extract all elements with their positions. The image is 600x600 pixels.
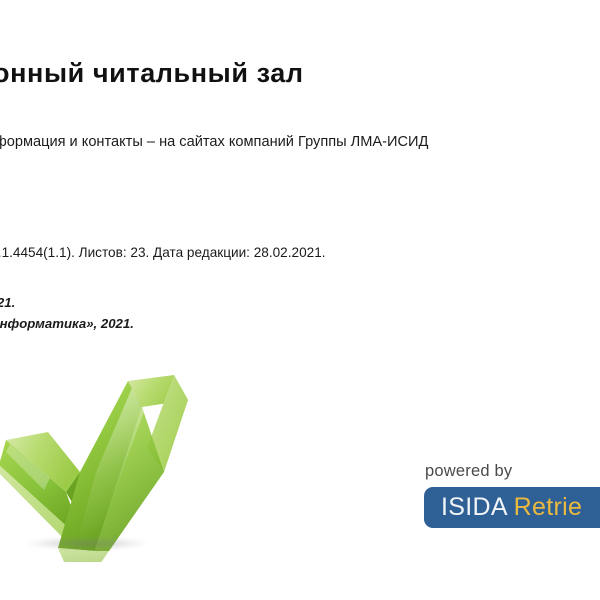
- contact-info-text: бная информация и контакты – на сайтах к…: [0, 131, 600, 153]
- powered-by-label: powered by: [425, 462, 512, 481]
- isida-brand-primary: ISIDA: [441, 493, 506, 521]
- contact-info-block: бная информация и контакты – на сайтах к…: [0, 131, 600, 202]
- copyright-line-isida: «Исида-Информатика», 2021.: [0, 313, 600, 334]
- checkmark-shadow: [26, 537, 148, 550]
- isida-retrieval-logo: ISIDA Retrie: [424, 487, 600, 528]
- website-link-abma[interactable]: abma.ru: [0, 160, 600, 181]
- copyright-line-lma: ЛМА», 2021.: [0, 292, 600, 313]
- isida-brand-text: ISIDA Retrie: [441, 495, 582, 520]
- page-title: ктронный читальный зал: [0, 56, 600, 90]
- website-link-isida[interactable]: sida.by: [0, 181, 600, 202]
- checkmark-svg: [0, 352, 202, 562]
- copyright-block: ЛМА», 2021. «Исида-Информатика», 2021.: [0, 292, 600, 334]
- green-checkmark-icon: [0, 352, 202, 562]
- slide-canvas: ктронный читальный зал бная информация и…: [0, 0, 600, 600]
- document-metadata-line: умента: 3.1.4454(1.1). Листов: 23. Дата …: [0, 243, 600, 263]
- isida-brand-secondary: Retrie: [506, 493, 582, 521]
